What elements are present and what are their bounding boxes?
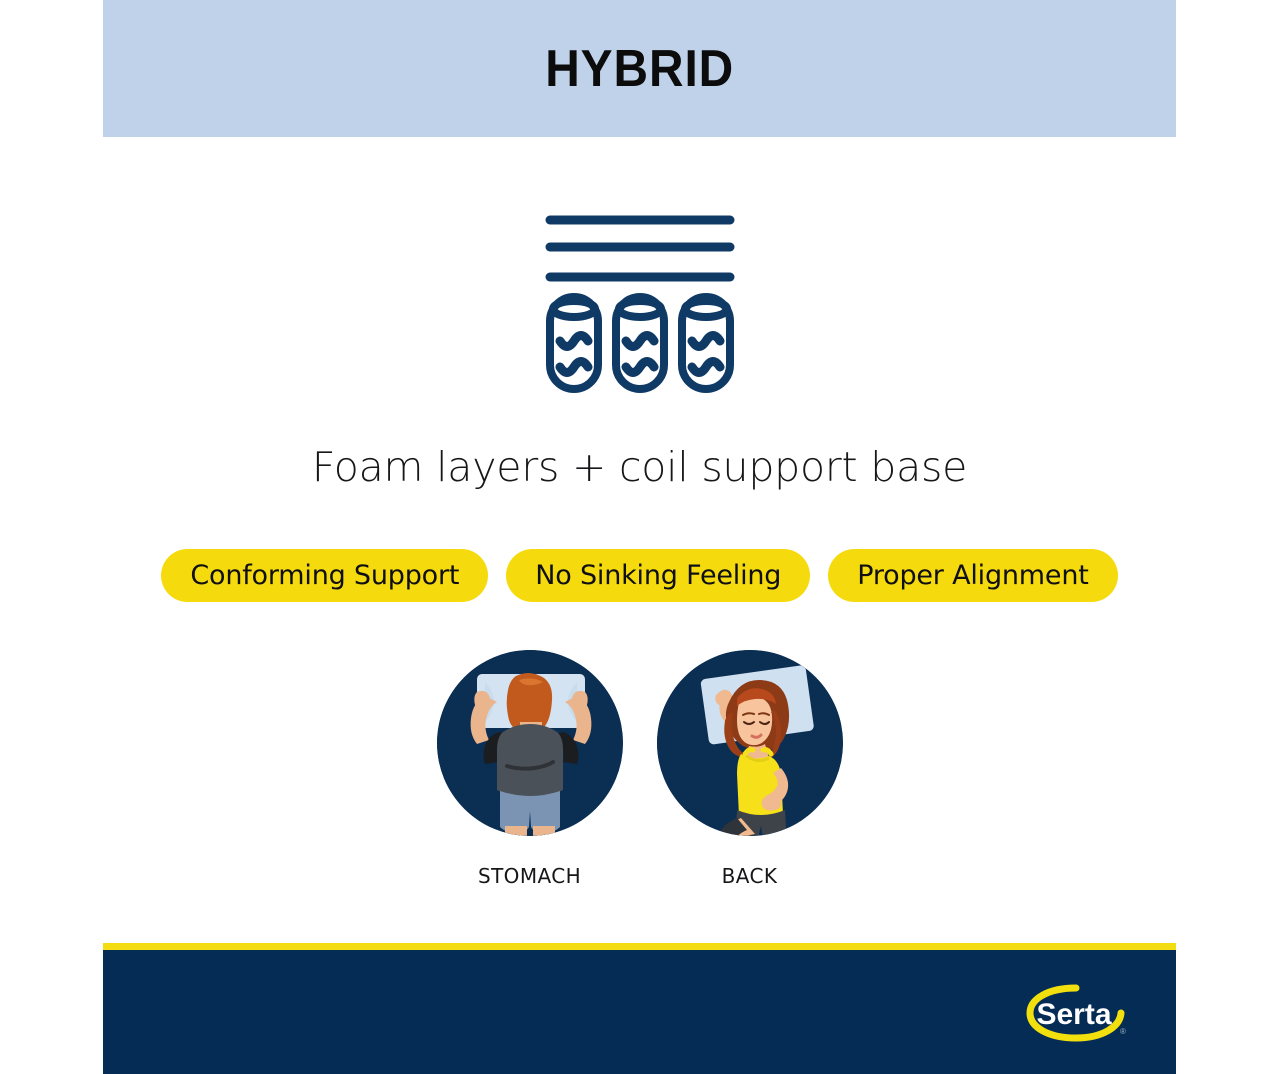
footer-accent-stripe: [103, 943, 1176, 950]
benefit-pill-row: Conforming Support No Sinking Feeling Pr…: [103, 549, 1176, 602]
stomach-sleeper-circle: [437, 650, 623, 836]
infographic-card: HYBRID: [103, 0, 1176, 1074]
back-sleeper-illustration: [657, 650, 843, 836]
hybrid-foam-coil-icon: [540, 195, 740, 395]
serta-wordmark: Serta: [1036, 998, 1111, 1031]
subtitle: Foam layers + coil support base: [103, 443, 1176, 491]
registered-mark: ®: [1120, 1027, 1126, 1036]
sleeper-item-stomach: STOMACH: [435, 650, 625, 888]
serta-logo-mark: Serta ®: [1024, 982, 1128, 1044]
sleeper-item-back: BACK: [655, 650, 845, 888]
benefit-pill[interactable]: Proper Alignment: [828, 549, 1117, 602]
sleeper-positions: STOMACH: [103, 650, 1176, 888]
header-band: HYBRID: [103, 0, 1176, 137]
benefit-pill[interactable]: No Sinking Feeling: [506, 549, 810, 602]
page-title: HYBRID: [545, 39, 734, 99]
serta-logo[interactable]: Serta ®: [1024, 982, 1128, 1044]
sleeper-label: STOMACH: [478, 864, 581, 888]
stomach-sleeper-illustration: [437, 650, 623, 836]
sleeper-label: BACK: [722, 864, 778, 888]
footer-bar: Serta ®: [103, 950, 1176, 1074]
hybrid-icon-wrap: [103, 195, 1176, 395]
back-sleeper-circle: [657, 650, 843, 836]
benefit-pill[interactable]: Conforming Support: [161, 549, 488, 602]
